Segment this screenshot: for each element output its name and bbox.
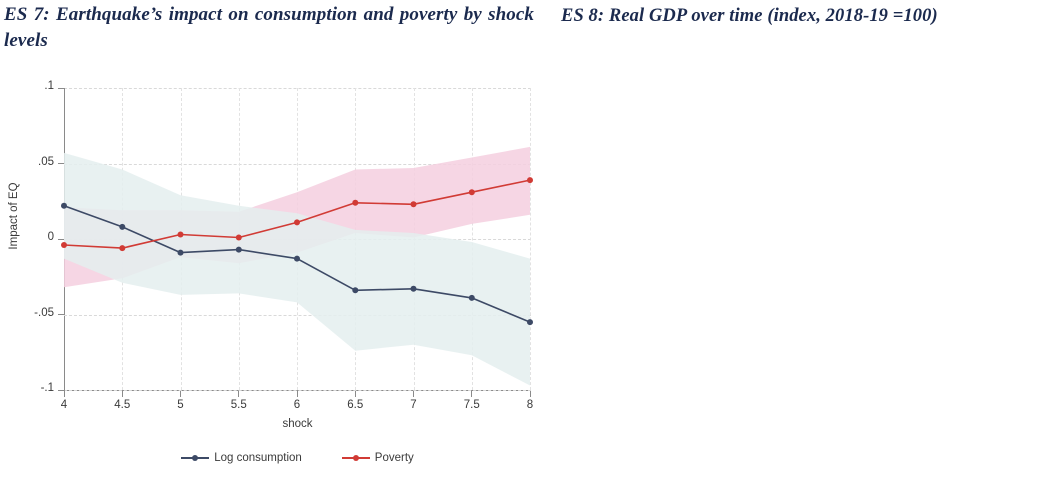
legend-swatch-line-icon [181, 453, 209, 463]
x-tick-label-left: 5.5 [219, 399, 259, 411]
legend-swatch-line-icon [342, 453, 370, 463]
x-tick-label-left: 4.5 [102, 399, 142, 411]
data-point [294, 219, 300, 225]
data-point [352, 200, 358, 206]
data-point [294, 256, 300, 262]
es7-legend: Log consumptionPoverty [64, 452, 531, 464]
x-tick-left [64, 391, 65, 397]
y-tick-label-left: 0 [14, 231, 54, 243]
right-figure-panel: ES 8: Real GDP over time (index, 2018-19… [548, 0, 1048, 480]
x-tick-label-left: 6 [277, 399, 317, 411]
x-tick-left [413, 391, 414, 397]
data-point [411, 286, 417, 292]
y-tick-label-left: -.1 [14, 382, 54, 394]
data-point [469, 189, 475, 195]
x-tick-left [297, 391, 298, 397]
es7-chart: .1.050-.05-.144.555.566.577.58 Impact of… [0, 60, 548, 480]
data-point [178, 250, 184, 256]
data-point [61, 242, 67, 248]
x-axis-label-left: shock [64, 418, 531, 430]
data-point [119, 224, 125, 230]
x-tick-label-left: 8 [510, 399, 550, 411]
data-point [236, 247, 242, 253]
y-axis-label-left: Impact of EQ [8, 156, 20, 276]
data-point [527, 177, 533, 183]
left-figure-title: ES 7: Earthquake’s impact on consumption… [4, 2, 534, 54]
y-tick-label-left: -.05 [14, 307, 54, 319]
x-tick-label-left: 7 [394, 399, 434, 411]
x-tick-left [355, 391, 356, 397]
es7-plot-area [64, 88, 530, 390]
y-tick-label-left: .05 [14, 156, 54, 168]
data-point [178, 232, 184, 238]
legend-label: Log consumption [214, 452, 302, 464]
data-point [61, 203, 67, 209]
figure-page: ES 7: Earthquake’s impact on consumption… [0, 0, 1048, 480]
data-point [352, 287, 358, 293]
data-point [236, 235, 242, 241]
x-tick-left [238, 391, 239, 397]
x-tick-left [471, 391, 472, 397]
x-tick-label-left: 6.5 [335, 399, 375, 411]
data-point [411, 201, 417, 207]
legend-item-log-consumption[interactable]: Log consumption [181, 452, 302, 464]
x-tick-label-left: 5 [161, 399, 201, 411]
data-point [119, 245, 125, 251]
legend-item-poverty[interactable]: Poverty [342, 452, 414, 464]
x-tick-left [180, 391, 181, 397]
x-tick-left [122, 391, 123, 397]
y-tick-label-left: .1 [14, 80, 54, 92]
x-tick-label-left: 7.5 [452, 399, 492, 411]
x-tick-label-left: 4 [44, 399, 84, 411]
right-figure-title: ES 8: Real GDP over time (index, 2018-19… [561, 4, 1048, 28]
data-point [527, 319, 533, 325]
left-figure-panel: ES 7: Earthquake’s impact on consumption… [0, 0, 548, 480]
x-tick-left [530, 391, 531, 397]
gridline-vertical [530, 88, 531, 390]
legend-label: Poverty [375, 452, 414, 464]
data-point [469, 295, 475, 301]
